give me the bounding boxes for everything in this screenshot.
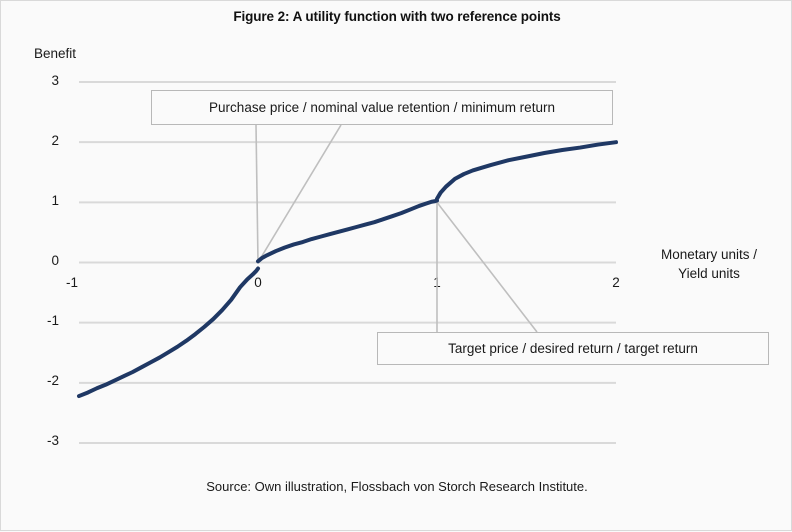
plot-svg xyxy=(1,1,792,532)
callout-purchase-label: Purchase price / nominal value retention… xyxy=(209,100,555,115)
gridlines-group xyxy=(79,82,616,443)
leader-target-diagonal xyxy=(437,202,537,332)
callout-target-label: Target price / desired return / target r… xyxy=(448,341,698,356)
callout-leader-lines-group xyxy=(256,125,537,332)
callout-purchase-price[interactable]: Purchase price / nominal value retention… xyxy=(151,90,613,125)
source-note: Source: Own illustration, Flossbach von … xyxy=(1,479,792,494)
callout-target-price[interactable]: Target price / desired return / target r… xyxy=(377,332,769,365)
figure-container: Figure 2: A utility function with two re… xyxy=(0,0,792,531)
leader-purchase-vertical xyxy=(256,125,258,263)
